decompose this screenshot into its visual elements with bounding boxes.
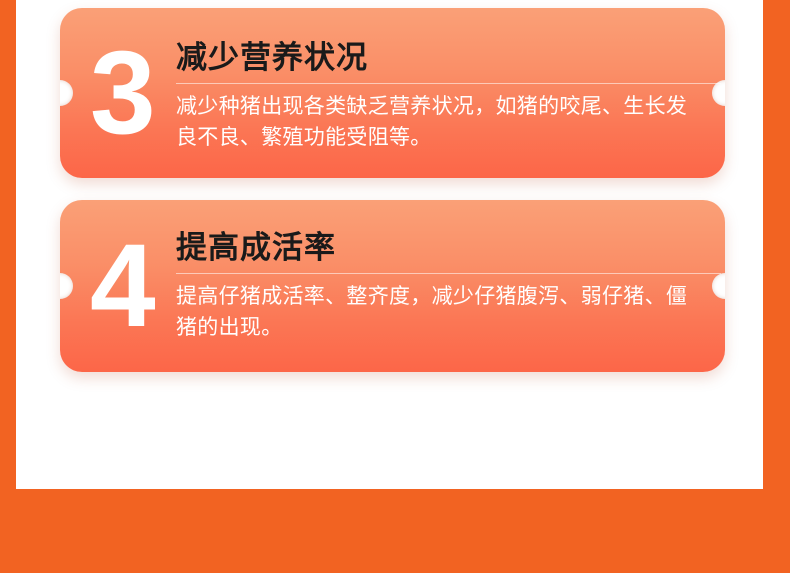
card-divider <box>176 83 721 84</box>
card-description: 减少种猪出现各类缺乏营养状况，如猪的咬尾、生长发良不良、繁殖功能受阻等。 <box>176 92 705 153</box>
card-index-number: 4 <box>90 227 154 345</box>
benefit-card[interactable]: 4 提高成活率 提高仔猪成活率、整齐度，减少仔猪腹泻、弱仔猪、僵猪的出现。 <box>60 200 725 372</box>
promo-page: 3 减少营养状况 减少种猪出现各类缺乏营养状况，如猪的咬尾、生长发良不良、繁殖功… <box>0 0 790 573</box>
card-description: 提高仔猪成活率、整齐度，减少仔猪腹泻、弱仔猪、僵猪的出现。 <box>176 282 705 343</box>
card-title: 提高成活率 <box>176 229 705 268</box>
card-index-number: 3 <box>90 34 154 152</box>
card-title: 减少营养状况 <box>176 39 705 78</box>
card-body: 减少营养状况 减少种猪出现各类缺乏营养状况，如猪的咬尾、生长发良不良、繁殖功能受… <box>176 8 705 178</box>
ticket-notch-left-icon <box>60 80 73 106</box>
white-content-panel: 3 减少营养状况 减少种猪出现各类缺乏营养状况，如猪的咬尾、生长发良不良、繁殖功… <box>16 0 763 489</box>
benefit-card-list: 3 减少营养状况 减少种猪出现各类缺乏营养状况，如猪的咬尾、生长发良不良、繁殖功… <box>16 0 763 489</box>
benefit-card[interactable]: 3 减少营养状况 减少种猪出现各类缺乏营养状况，如猪的咬尾、生长发良不良、繁殖功… <box>60 8 725 178</box>
ticket-notch-right-icon <box>712 273 725 299</box>
ticket-notch-left-icon <box>60 273 73 299</box>
card-divider <box>176 273 721 274</box>
card-body: 提高成活率 提高仔猪成活率、整齐度，减少仔猪腹泻、弱仔猪、僵猪的出现。 <box>176 200 705 372</box>
